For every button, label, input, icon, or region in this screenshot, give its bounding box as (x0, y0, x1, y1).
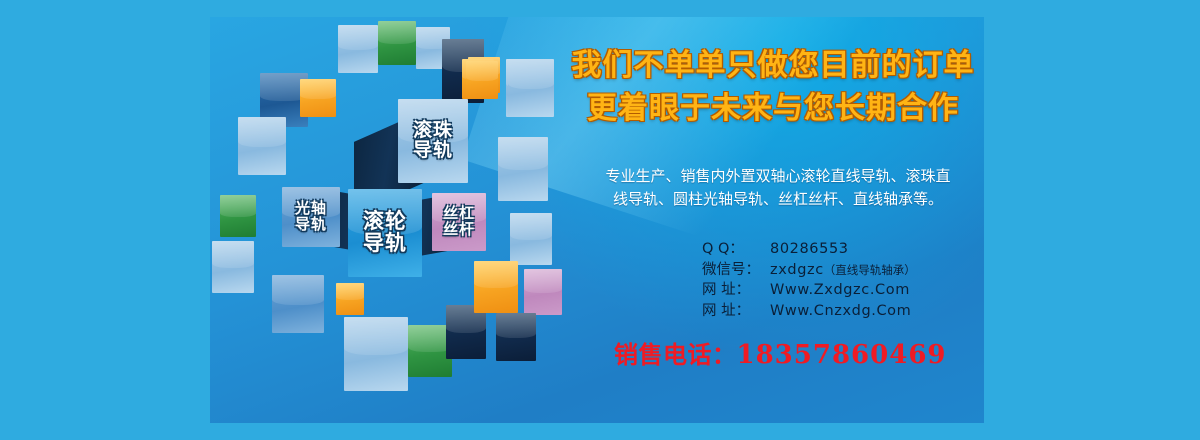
label-cube-text: 滚轮 导轨 (363, 211, 407, 255)
decor-cube (378, 21, 416, 65)
label-cube-sigang-sigan[interactable]: 丝杠 丝杆 (432, 193, 486, 251)
cube-face (272, 275, 324, 333)
cube-face (474, 261, 518, 313)
cube-face (498, 137, 548, 201)
headline-line-1: 我们不单单只做您目前的订单 (562, 45, 984, 88)
contact-label: 微信号： (702, 260, 770, 281)
cube-face (238, 117, 286, 175)
label-cube-gunzhu-daogui[interactable]: 滚珠 导轨 (398, 99, 468, 183)
decor-cube (336, 283, 364, 315)
decor-cube (508, 59, 554, 117)
cube-face (524, 269, 562, 315)
cube-face (378, 21, 416, 65)
decor-cube (344, 317, 408, 391)
cube-face (446, 305, 486, 359)
decor-cube (498, 137, 548, 201)
label-cube-guangzhou-daogui[interactable]: 光轴 导轨 (282, 187, 340, 247)
decor-cube (496, 313, 536, 361)
contact-label: 网 址： (702, 301, 770, 322)
headline: 我们不单单只做您目前的订单 更着眼于未来与您长期合作 (562, 45, 984, 130)
contact-value[interactable]: Www.Zxdgzc.Com (770, 280, 910, 301)
cube-explosion-graphic: 滚珠 导轨 光轴 导轨 丝杠 丝杆 滚轮 导轨 (210, 17, 562, 413)
contact-note: （直线导轨轴承） (824, 260, 916, 281)
contact-row-website-1[interactable]: 网 址： Www.Zxdgzc.Com (702, 280, 916, 301)
cube-face (508, 59, 554, 117)
decor-cube (272, 275, 324, 333)
sales-phone-line: 销售电话：18357860469 (614, 335, 954, 370)
contact-row-qq: Q Q： 80286553 (702, 239, 916, 260)
contact-value[interactable]: Www.Cnzxdg.Com (770, 301, 911, 322)
decor-cube (474, 261, 518, 313)
cube-face (344, 317, 408, 391)
label-cube-text: 丝杠 丝杆 (443, 206, 475, 237)
label-cube-gunlun-daogui[interactable]: 滚轮 导轨 (348, 189, 422, 277)
contact-list: Q Q： 80286553 微信号： zxdgzc （直线导轨轴承） 网 址： … (702, 239, 916, 321)
decor-cube (510, 213, 552, 265)
contact-label: 网 址： (702, 280, 770, 301)
label-cube-text: 滚珠 导轨 (413, 121, 453, 161)
cube-face (338, 25, 378, 73)
cube-face (496, 313, 536, 361)
decor-cube (338, 25, 378, 73)
contact-row-website-2[interactable]: 网 址： Www.Cnzxdg.Com (702, 301, 916, 322)
decor-cube (300, 79, 336, 117)
cube-face (300, 79, 336, 117)
decor-cube (220, 195, 256, 237)
cube-face (510, 213, 552, 265)
contact-row-wechat: 微信号： zxdgzc （直线导轨轴承） (702, 260, 916, 281)
decor-cube (446, 305, 486, 359)
banner-root: 滚珠 导轨 光轴 导轨 丝杠 丝杆 滚轮 导轨 我们不单单只做您目前的订单 (0, 0, 1200, 440)
product-description: 专业生产、销售内外置双轴心滚轮直线导轨、滚珠直线导轨、圆柱光轴导轨、丝杠丝杆、直… (604, 165, 952, 212)
contact-value: zxdgzc (770, 260, 824, 281)
sales-phone-label: 销售电话： (614, 341, 737, 369)
contact-label: Q Q： (702, 239, 770, 260)
sales-phone-number: 18357860469 (737, 340, 947, 370)
cube-face (336, 283, 364, 315)
label-cube-text: 光轴 导轨 (295, 201, 327, 232)
cube-face (220, 195, 256, 237)
cube-face (212, 241, 254, 293)
decor-cube (212, 241, 254, 293)
decor-cube (238, 117, 286, 175)
contact-value: 80286553 (770, 239, 849, 260)
decor-cube (466, 61, 498, 99)
headline-line-2: 更着眼于未来与您长期合作 (562, 88, 984, 131)
cube-face (466, 61, 498, 99)
decor-cube (524, 269, 562, 315)
text-column: 我们不单单只做您目前的订单 更着眼于未来与您长期合作 专业生产、销售内外置双轴心… (562, 17, 984, 423)
inner-banner-panel: 滚珠 导轨 光轴 导轨 丝杠 丝杆 滚轮 导轨 我们不单单只做您目前的订单 (210, 17, 984, 423)
